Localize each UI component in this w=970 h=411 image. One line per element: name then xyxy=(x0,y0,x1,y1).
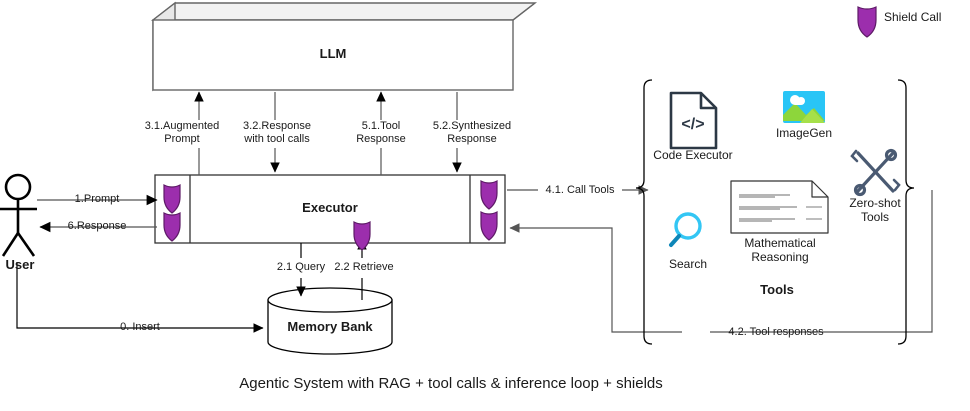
code-document-icon: </> xyxy=(671,93,716,148)
legend-shield-label: Shield Call xyxy=(884,10,941,24)
memory-bank-label: Memory Bank xyxy=(287,320,372,333)
edge-label-tool-response: 5.1.Tool Response xyxy=(356,120,406,146)
shield-legend-icon xyxy=(858,7,876,37)
tools-brace-left xyxy=(636,80,652,344)
edge-label-retrieve: 2.2 Retrieve xyxy=(334,261,393,274)
tool-label-zero-shot: Zero-shot Tools xyxy=(849,196,900,224)
diagram-caption: Agentic System with RAG + tool calls & i… xyxy=(239,375,663,393)
crossed-wrenches-icon xyxy=(852,151,899,195)
edge-label-query: 2.1 Query xyxy=(277,261,325,274)
svg-text:</>: </> xyxy=(681,116,704,133)
tool-label-code-executor: Code Executor xyxy=(653,148,732,162)
magnifier-icon xyxy=(671,214,700,245)
tool-label-math-reasoning: Mathematical Reasoning xyxy=(744,236,815,264)
math-document-icon xyxy=(731,181,828,233)
edge-label-call-tools: 4.1. Call Tools xyxy=(546,184,615,197)
executor-label: Executor xyxy=(302,201,358,214)
user-label: User xyxy=(6,258,35,271)
edge-label-prompt: 1.Prompt xyxy=(75,193,120,206)
image-gen-icon xyxy=(783,91,825,123)
edge-insert xyxy=(17,262,263,328)
edge-label-insert: 0. Insert xyxy=(120,321,160,334)
diagram-vector-layer: </> xyxy=(0,0,970,411)
user-node xyxy=(0,175,37,256)
edge-label-tool-responses: 4.2. Tool responses xyxy=(728,326,823,339)
edge-label-response: 6.Response xyxy=(68,220,127,233)
tool-label-imagegen: ImageGen xyxy=(776,126,832,140)
diagram-canvas: </> xyxy=(0,0,970,411)
shield-memory xyxy=(354,222,370,250)
edge-label-response-with-tool-calls: 3.2.Response with tool calls xyxy=(243,120,311,146)
tool-label-search: Search xyxy=(669,257,707,271)
tools-group-label: Tools xyxy=(760,283,794,296)
llm-label: LLM xyxy=(320,47,347,60)
edge-label-augmented-prompt: 3.1.Augmented Prompt xyxy=(145,120,220,146)
edge-label-synthesized-response: 5.2.Synthesized Response xyxy=(433,120,511,146)
